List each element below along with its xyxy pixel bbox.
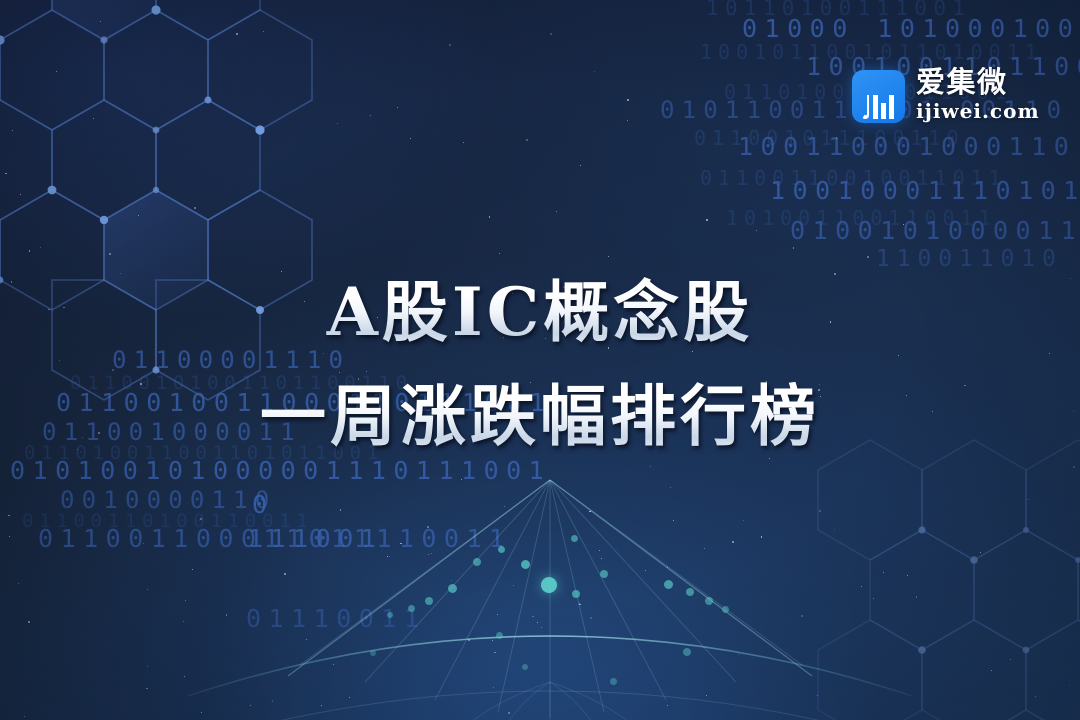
poster-title: A股IC概念股 一周涨跌幅排行榜 bbox=[0, 258, 1080, 470]
title-line-2: 一周涨跌幅排行榜 bbox=[0, 362, 1080, 470]
brand-wordmark: 爱集微 ijiwei.com bbox=[916, 68, 1040, 124]
brand-name-en: ijiwei.com bbox=[916, 99, 1040, 124]
title-line-1: A股IC概念股 bbox=[0, 258, 1080, 366]
brand-name-cn: 爱集微 bbox=[916, 68, 1008, 97]
bar-chart-logo-icon bbox=[852, 70, 905, 123]
poster-canvas: 1011010011100101000 10100010000001110110… bbox=[0, 0, 1080, 720]
brand-logo[interactable]: 爱集微 ijiwei.com bbox=[852, 68, 1040, 124]
